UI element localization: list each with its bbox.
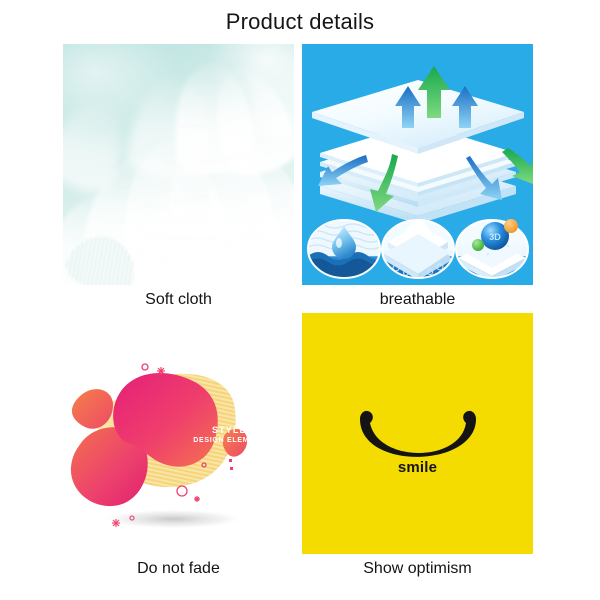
- smile-overlay-text: smile: [302, 459, 533, 476]
- product-detail-card-show-optimism[interactable]: smile Show optimism: [302, 313, 533, 554]
- detail-circle-3d-ball: 3D: [456, 219, 528, 282]
- show-optimism-image[interactable]: smile: [302, 313, 533, 554]
- breathable-caption: breathable: [277, 289, 558, 311]
- soft-cloth-image[interactable]: [63, 44, 294, 285]
- fluid-blob-illustration: [63, 313, 294, 554]
- page-title: Product details: [0, 8, 600, 36]
- do-not-fade-image[interactable]: STYLE DESIGN ELEMENT: [63, 313, 294, 554]
- product-detail-card-soft-cloth[interactable]: Soft cloth: [63, 44, 294, 285]
- smile-curve: [360, 411, 476, 457]
- three-d-ball-label: 3D: [489, 232, 501, 242]
- fabric-layer-top: [312, 80, 524, 154]
- product-detail-card-breathable[interactable]: 3D breathable: [302, 44, 533, 285]
- detail-circle-water-drop: [308, 220, 388, 280]
- product-detail-card-do-not-fade[interactable]: STYLE DESIGN ELEMENT Do not fade: [63, 313, 294, 554]
- breathable-diagram: 3D: [302, 44, 533, 285]
- show-optimism-caption: Show optimism: [277, 558, 558, 580]
- decor-dots: [229, 459, 233, 470]
- blob-shadow: [101, 509, 245, 529]
- detail-circle-vapor-layers: [382, 209, 454, 280]
- breathable-image[interactable]: 3D: [302, 44, 533, 285]
- smile-illustration: [302, 313, 533, 554]
- product-details-page: Product details Soft cloth: [0, 0, 600, 600]
